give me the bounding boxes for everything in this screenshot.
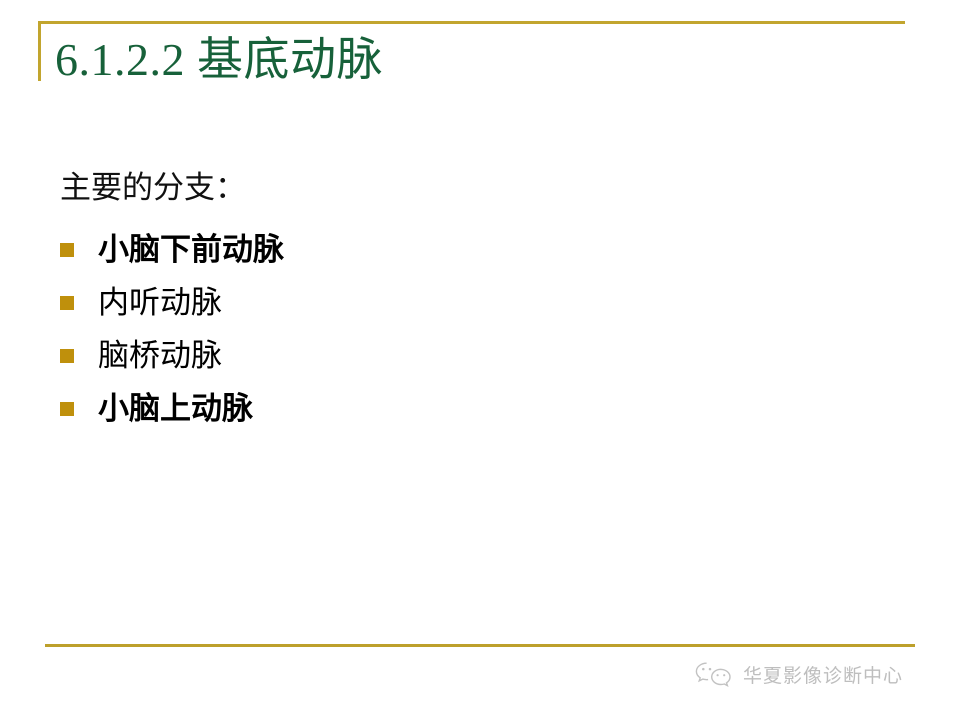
title-left-rule: [38, 21, 41, 81]
list-item-label: 小脑上动脉: [98, 393, 253, 424]
presentation-slide: 6.1.2.2 基底动脉 主要的分支： 小脑下前动脉 内听动脉 脑桥动脉 小脑上…: [0, 0, 960, 720]
list-item-label: 脑桥动脉: [98, 340, 222, 371]
footer-rule: [45, 644, 915, 647]
watermark-label: 华夏影像诊断中心: [743, 661, 903, 688]
list-item-label: 小脑下前动脉: [98, 234, 284, 265]
footer-watermark: 华夏影像诊断中心: [694, 660, 903, 688]
list-item-label: 内听动脉: [98, 287, 222, 318]
square-bullet-icon: [60, 402, 74, 416]
list-item[interactable]: 小脑下前动脉: [58, 223, 758, 276]
title-top-rule: [38, 21, 905, 24]
slide-title: 6.1.2.2 基底动脉: [55, 36, 383, 84]
square-bullet-icon: [60, 243, 74, 257]
branch-bullet-list: 小脑下前动脉 内听动脉 脑桥动脉 小脑上动脉: [58, 223, 758, 435]
square-bullet-icon: [60, 349, 74, 363]
list-item[interactable]: 小脑上动脉: [58, 382, 758, 435]
slide-body: 主要的分支： 小脑下前动脉 内听动脉 脑桥动脉 小脑上动脉: [58, 172, 758, 435]
list-item[interactable]: 内听动脉: [58, 276, 758, 329]
wechat-logo-icon: [694, 660, 734, 688]
intro-text: 主要的分支：: [60, 172, 758, 203]
list-item[interactable]: 脑桥动脉: [58, 329, 758, 382]
square-bullet-icon: [60, 296, 74, 310]
